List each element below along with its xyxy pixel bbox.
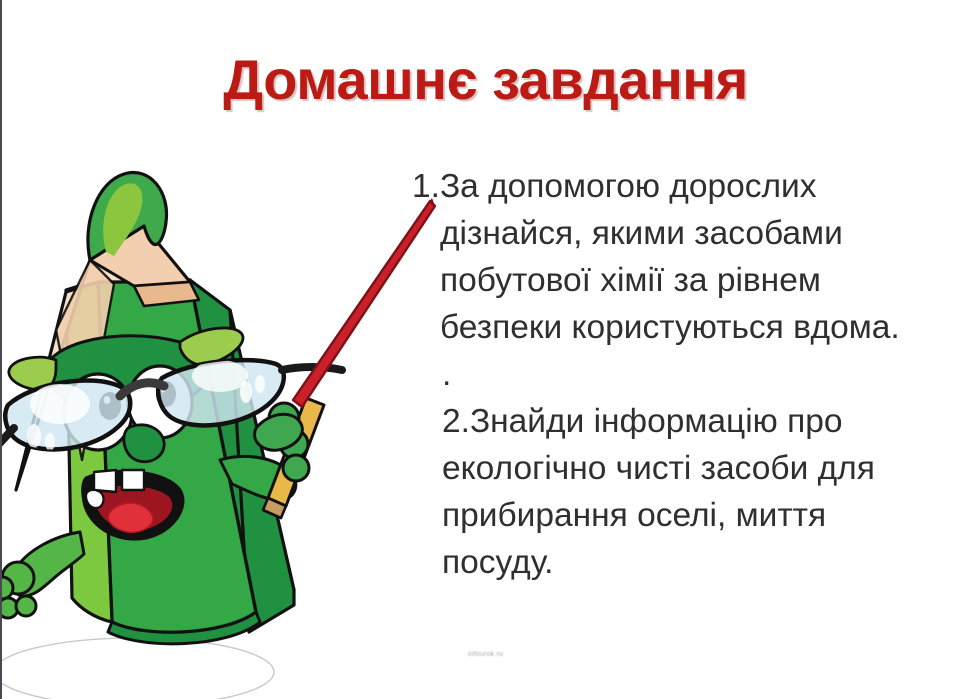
task-item-2: 2.Знайди інформацію про екологічно чисті… bbox=[412, 398, 932, 586]
pencil-mascot-illustration bbox=[0, 160, 374, 699]
task-separator-dot: . bbox=[412, 351, 932, 398]
page-title: Домашнє завдання bbox=[2, 47, 967, 112]
task-item-1: 1.За допомогою дорослих дізнайся, якими … bbox=[412, 163, 932, 351]
watermark-text: infourok.ru bbox=[2, 651, 967, 658]
presentation-slide: Домашнє завдання bbox=[0, 0, 967, 699]
homework-tasks: 1.За допомогою дорослих дізнайся, якими … bbox=[412, 163, 932, 586]
